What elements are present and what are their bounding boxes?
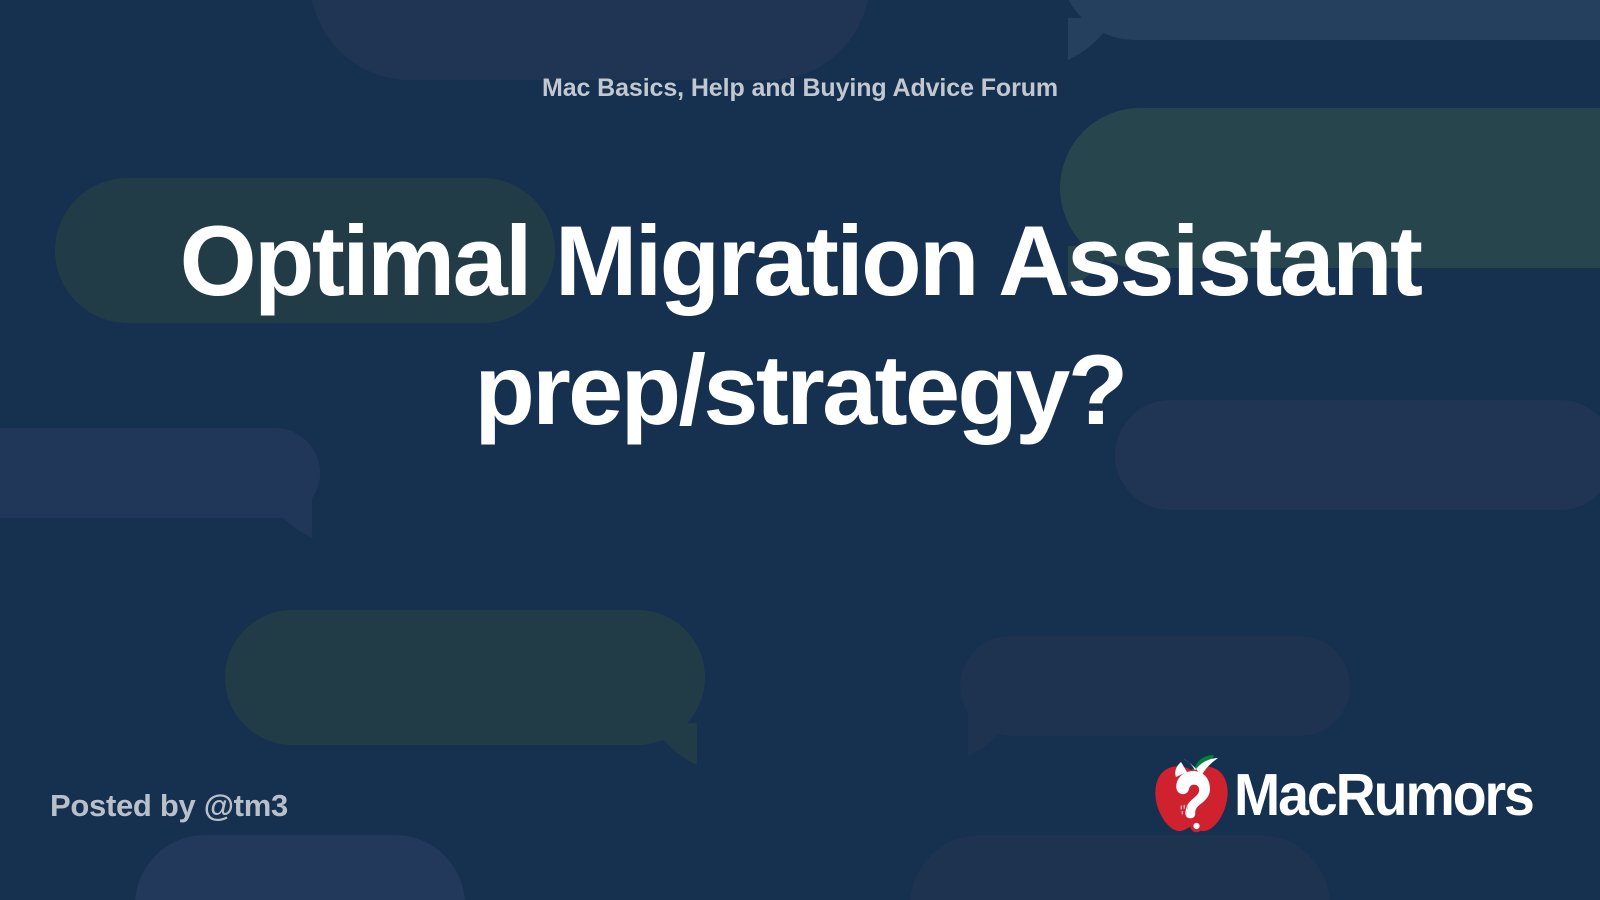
social-share-card: Mac Basics, Help and Buying Advice Forum… [0,0,1600,900]
card-content: Mac Basics, Help and Buying Advice Forum… [0,0,1600,900]
thread-title-container: Optimal Migration Assistant prep/strateg… [120,196,1480,454]
posted-by-label: Posted by @tm3 [50,788,288,824]
macrumors-logo: MacRumors [1152,752,1552,838]
macrumors-apple-question-mark-icon [1152,752,1230,838]
page-title: Optimal Migration Assistant prep/strateg… [120,196,1480,454]
macrumors-wordmark: MacRumors [1234,766,1533,825]
forum-name: Mac Basics, Help and Buying Advice Forum [0,74,1600,103]
